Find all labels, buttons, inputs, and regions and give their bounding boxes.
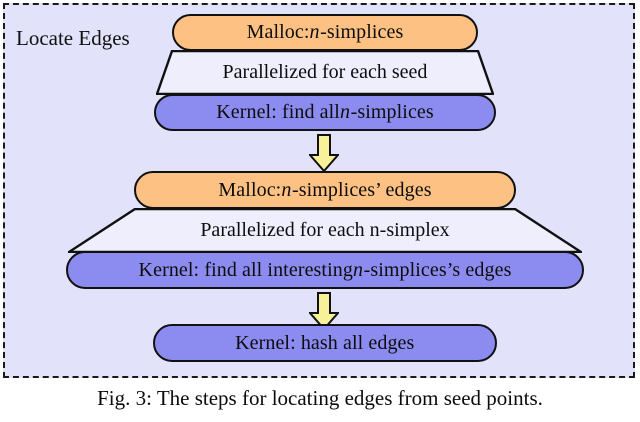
fan-parallelized-for-each-n-simplex: Parallelized for each n-simplex	[68, 208, 582, 253]
node-label-italic: n	[340, 101, 351, 124]
node-label: Kernel: find all interesting	[139, 259, 353, 282]
fan-label: Parallelized for each seed	[156, 61, 494, 84]
fan-parallelized-for-each-seed: Parallelized for each seed	[156, 50, 494, 95]
node-label-italic: n	[310, 21, 321, 44]
fan-label: Parallelized for each n-simplex	[68, 219, 582, 242]
node-label-suffix: -simplices’ edges	[292, 179, 432, 202]
node-kernel-find-all-interesting-edges[interactable]: Kernel: find all interesting n-simplices…	[66, 251, 584, 289]
node-malloc-n-simplices-edges[interactable]: Malloc: n-simplices’ edges	[134, 171, 516, 209]
node-label: Kernel: find all	[216, 101, 340, 124]
group-label-locate-edges: Locate Edges	[16, 25, 130, 51]
node-label: Malloc:	[247, 21, 310, 44]
node-label-italic: n	[353, 259, 364, 282]
node-label-suffix: -simplices	[320, 21, 403, 44]
node-label: Malloc:	[218, 179, 281, 202]
figure-panel: Locate Edges Malloc: n-simplices Paralle…	[3, 3, 635, 378]
node-kernel-find-all-n-simplices[interactable]: Kernel: find all n-simplices	[154, 94, 496, 131]
node-label: Kernel: hash all edges	[235, 332, 414, 355]
figure-caption: Fig. 3: The steps for locating edges fro…	[0, 386, 640, 411]
node-label-suffix: -simplices’s edges	[364, 259, 512, 282]
node-kernel-hash-all-edges[interactable]: Kernel: hash all edges	[153, 324, 497, 362]
down-arrow-icon-1	[309, 134, 339, 172]
node-malloc-n-simplices[interactable]: Malloc: n-simplices	[172, 14, 478, 51]
node-label-suffix: -simplices	[351, 101, 434, 124]
node-label-italic: n	[281, 179, 292, 202]
